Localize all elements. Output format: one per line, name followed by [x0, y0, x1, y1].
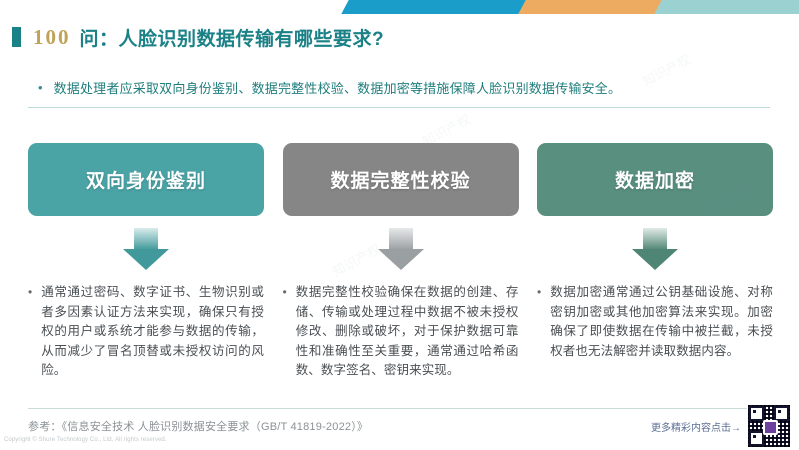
- banner-bar-orange: [518, 0, 662, 14]
- measure-body-mutual-auth: • 通常通过密码、数字证书、生物识别或者多因素认证方法来实现，确保只有授权的用户…: [28, 283, 264, 381]
- measure-column-encryption: 数据加密 • 数据加密通常通过公钥基础设施、对称密钥加密或其他加密算法来实现。加…: [537, 143, 773, 381]
- measure-column-mutual-auth: 双向身份鉴别 • 通常通过密码、数字证书、生物识别或者多因素认证方法来实现，确保…: [28, 143, 264, 381]
- measure-body-encryption: • 数据加密通常通过公钥基础设施、对称密钥加密或其他加密算法来实现。加密确保了即…: [537, 283, 773, 361]
- body-bullet-icon: •: [283, 283, 287, 301]
- down-arrow-icon: [632, 228, 678, 270]
- footer-reference: 参考：《信息安全技术 人脸识别数据安全要求（GB/T 41819-2022）》: [28, 418, 368, 434]
- footer-copyright: Copyright © Shure Technology Co., Ltd. A…: [4, 437, 167, 443]
- measure-header-mutual-auth: 双向身份鉴别: [28, 143, 264, 216]
- measure-header-label: 数据加密: [615, 166, 695, 193]
- qr-code-icon[interactable]: [747, 404, 791, 448]
- measure-header-label: 数据完整性校验: [330, 166, 470, 193]
- title-text: 问：人脸识别数据传输有哪些要求?: [80, 24, 385, 51]
- title-number: 100: [33, 25, 71, 50]
- lead-statement: • 数据处理者应采取双向身份鉴别、数据完整性校验、数据加密等措施保障人脸识别数据…: [38, 79, 758, 98]
- lead-bullet-icon: •: [38, 79, 43, 97]
- lead-statement-text: 数据处理者应采取双向身份鉴别、数据完整性校验、数据加密等措施保障人脸识别数据传输…: [54, 79, 622, 98]
- measure-body-text: 通常通过密码、数字证书、生物识别或者多因素认证方法来实现，确保只有授权的用户或系…: [41, 283, 264, 381]
- top-decorative-banner: [0, 0, 799, 14]
- page-title: 100 问：人脸识别数据传输有哪些要求?: [12, 22, 384, 52]
- down-arrow-icon: [123, 228, 169, 270]
- measures-columns: 双向身份鉴别 • 通常通过密码、数字证书、生物识别或者多因素认证方法来实现，确保…: [28, 143, 773, 381]
- body-bullet-icon: •: [537, 283, 541, 301]
- banner-bar-teal: [654, 0, 799, 14]
- measure-header-integrity-check: 数据完整性校验: [283, 143, 519, 216]
- qr-promo-block[interactable]: 更多精彩内容点击→: [651, 404, 791, 448]
- measure-header-label: 双向身份鉴别: [86, 166, 206, 193]
- measure-body-integrity-check: • 数据完整性校验确保在数据的创建、存储、传输或处理过程中数据不被未授权修改、删…: [283, 283, 519, 381]
- qr-cta-label: 更多精彩内容点击→: [651, 419, 741, 434]
- measure-body-text: 数据加密通常通过公钥基础设施、对称密钥加密或其他加密算法来实现。加密确保了即使数…: [550, 283, 773, 361]
- down-arrow-icon: [378, 228, 424, 270]
- title-square-marker: [12, 27, 21, 47]
- banner-bar-blue: [341, 0, 526, 14]
- measure-body-text: 数据完整性校验确保在数据的创建、存储、传输或处理过程中数据不被未授权修改、删除或…: [296, 283, 519, 381]
- measure-header-encryption: 数据加密: [537, 143, 773, 216]
- measure-column-integrity-check: 数据完整性校验 • 数据完整性校验确保在数据的创建、存储、传输或处理过程中数据不…: [283, 143, 519, 381]
- body-bullet-icon: •: [28, 283, 32, 301]
- qr-center-logo: [763, 420, 778, 435]
- lead-divider: [28, 107, 770, 108]
